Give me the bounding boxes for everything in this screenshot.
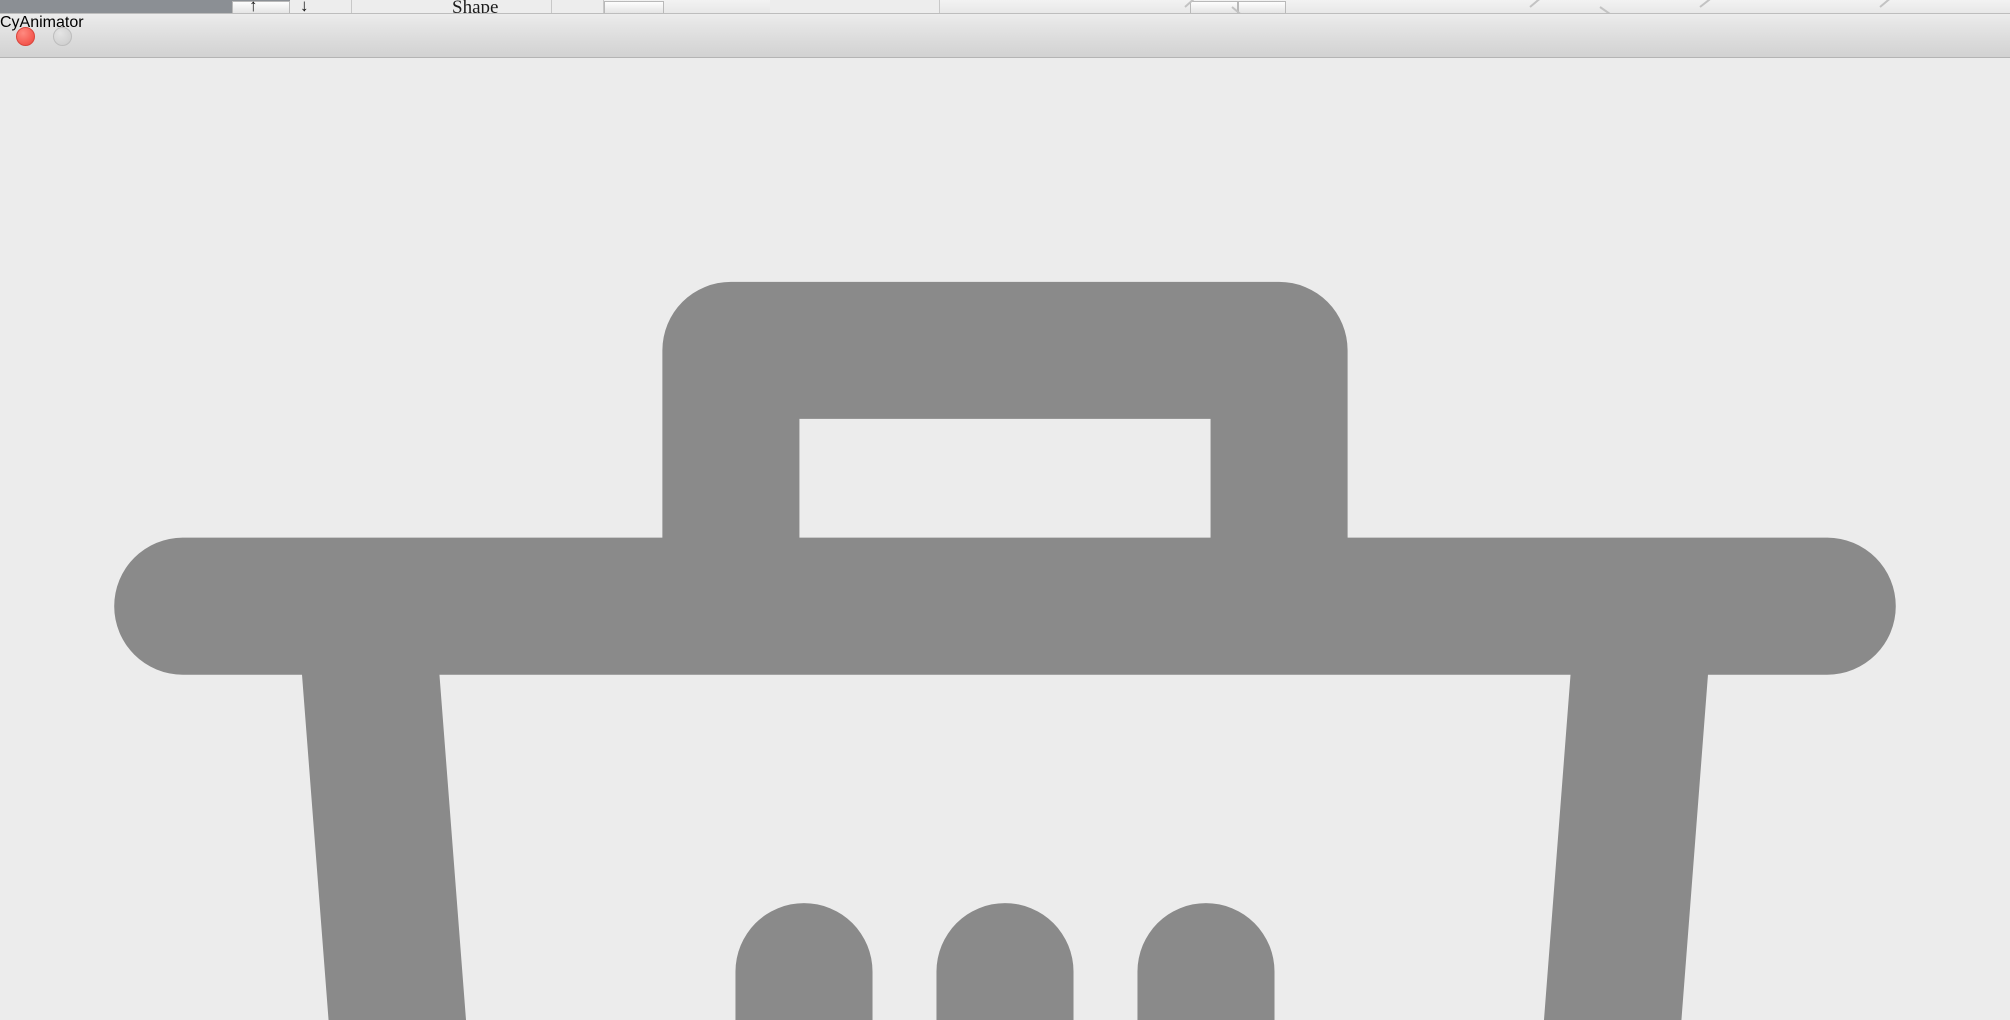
background-application-strip: ↑ ↓ Shape xyxy=(0,0,2010,14)
maximize-window-icon[interactable] xyxy=(0,27,19,46)
arrow-up-icon: ↑ xyxy=(249,0,258,14)
cyanimator-window: CyAnimator Clear All Frames xyxy=(0,14,2010,510)
window-titlebar: CyAnimator xyxy=(0,14,2010,58)
frame-toolbar: Clear All Frames xyxy=(0,58,2010,1020)
background-label-shape: Shape xyxy=(452,0,498,14)
background-network-edge xyxy=(1529,0,1561,8)
background-panel-segment xyxy=(552,0,604,14)
delete-frame-button[interactable] xyxy=(0,58,2010,1020)
minimize-window-icon[interactable] xyxy=(53,27,72,46)
arrow-down-icon: ↓ xyxy=(300,0,309,14)
background-panel-segment xyxy=(770,0,940,14)
window-title: CyAnimator xyxy=(0,14,2010,32)
background-network-edge xyxy=(1879,0,1911,8)
background-network-edge xyxy=(1699,0,1732,8)
trash-icon xyxy=(0,58,2010,1020)
